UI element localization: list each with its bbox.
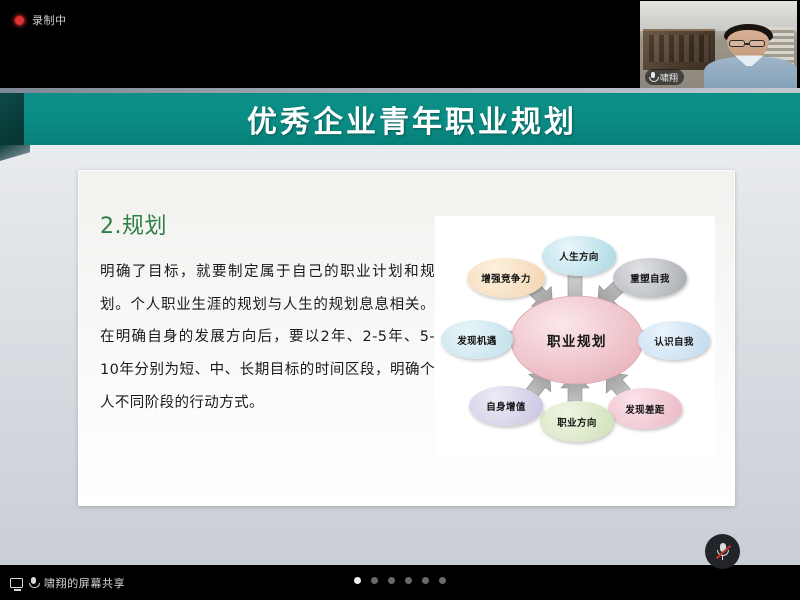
- zoom-screen-share-window: 录制中 啸翔: [0, 0, 800, 600]
- diagram-node-top-right: 重塑自我: [613, 258, 687, 298]
- video-person: [709, 24, 797, 89]
- recording-label: 录制中: [32, 12, 67, 28]
- video-cabinet: [643, 29, 715, 69]
- page-title: 优秀企业青年职业规划: [247, 97, 577, 141]
- diagram-node-right: 认识自我: [638, 321, 710, 360]
- recording-dot-icon: [14, 15, 25, 26]
- glasses-bridge-icon: [745, 43, 750, 45]
- page-dot-2[interactable]: [371, 577, 378, 584]
- page-dot-3[interactable]: [388, 577, 395, 584]
- page-dot-1[interactable]: [354, 577, 361, 584]
- diagram-node-bottom: 职业方向: [540, 401, 614, 442]
- microphone-muted-icon: [716, 543, 729, 561]
- glasses-left-lens-icon: [729, 40, 744, 47]
- banner-body: 优秀企业青年职业规划: [24, 93, 800, 145]
- slide-title-banner: 优秀企业青年职业规划: [0, 93, 800, 145]
- page-dot-4[interactable]: [405, 577, 412, 584]
- top-bar: 录制中 啸翔: [0, 0, 800, 88]
- slide-content-card: 2.规划 明确了目标，就要制定属于自己的职业计划和规划。个人职业生涯的规划与人生…: [78, 170, 735, 506]
- section-body-text: 明确了目标，就要制定属于自己的职业计划和规划。个人职业生涯的规划与人生的规划息息…: [100, 256, 435, 419]
- recording-indicator: 录制中: [14, 12, 67, 28]
- mute-toggle-button[interactable]: [705, 534, 740, 569]
- diagram-node-bottom-right: 发现差距: [608, 388, 682, 429]
- page-indicator-dots[interactable]: [0, 577, 800, 584]
- banner-bottom-bevel: [0, 145, 30, 161]
- page-dot-6[interactable]: [439, 577, 446, 584]
- career-planning-diagram: 职业规划 人生方向 重塑自我 认识自我 发现差距 职业方向 自身增值 发现机遇 …: [435, 216, 715, 458]
- page-dot-5[interactable]: [422, 577, 429, 584]
- diagram-node-center: 职业规划: [511, 296, 643, 384]
- diagram-node-left: 发现机遇: [441, 320, 513, 359]
- diagram-node-bottom-left: 自身增值: [469, 386, 543, 426]
- microphone-icon: [648, 72, 657, 83]
- banner-left-bevel: [0, 93, 26, 145]
- participant-name: 啸翔: [660, 71, 678, 84]
- diagram-node-top-left: 增强竞争力: [467, 258, 545, 298]
- diagram-node-top: 人生方向: [542, 236, 616, 276]
- self-view-video-tile[interactable]: 啸翔: [640, 1, 797, 89]
- slide-text-column: 2.规划 明确了目标，就要制定属于自己的职业计划和规划。个人职业生涯的规划与人生…: [78, 170, 446, 506]
- shared-slide-stage: 优秀企业青年职业规划 2.规划 明确了目标，就要制定属于自己的职业计划和规划。个…: [0, 88, 800, 565]
- participant-name-chip: 啸翔: [645, 69, 684, 85]
- glasses-right-lens-icon: [749, 40, 764, 47]
- section-heading: 2.规划: [100, 208, 446, 240]
